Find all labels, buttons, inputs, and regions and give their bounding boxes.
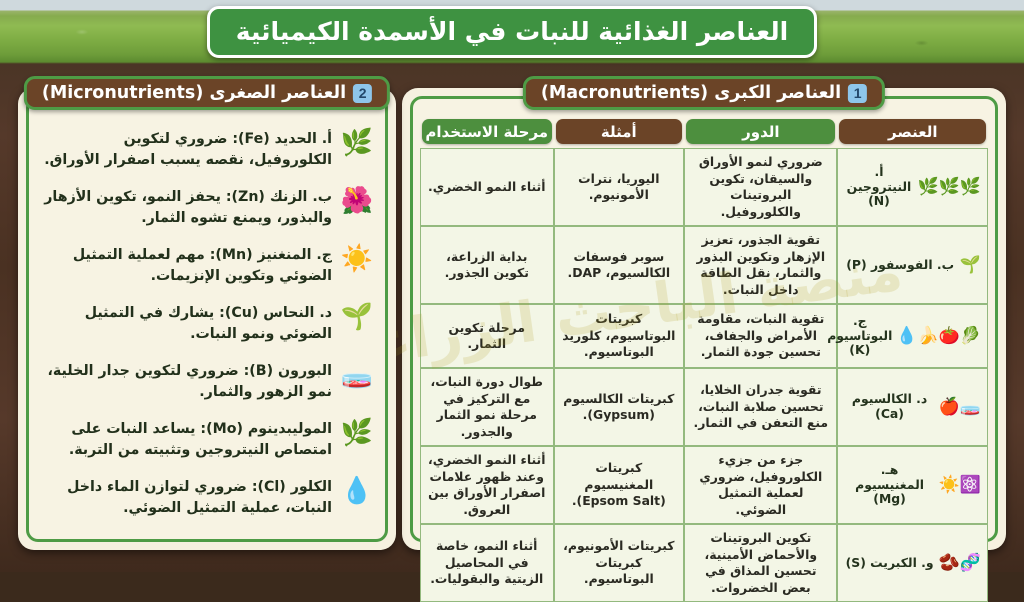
column-header-stage: مرحلة الاستخدام [420,119,554,148]
section-number-badge-1: 1 [848,84,867,103]
column-header-examples-label: أمثلة [556,119,683,144]
macronutrients-heading: العناصر الكبرى (Macronutrients) [541,83,841,103]
element-illustration-icon: 🌱 [960,257,981,274]
element-illustration-icon: 🧫🍎 [939,399,981,416]
cell-element: 🌿🌿🌿أ. النيتروجين (N) [837,148,988,226]
cell-role: تقوية جدران الخلايا، تحسين صلابة النبات،… [684,368,837,446]
table-row: 🥬🍅🍌💧ج. البوتاسيوم (K)تقوية النبات، مقاوم… [420,304,988,368]
page-title: العناصر الغذائية للنبات في الأسمدة الكيم… [236,18,788,47]
cell-element: 🧬🫘و. الكبريت (S) [837,524,988,602]
table-row: 🌱ب. الفوسفور (P)تقوية الجذور، تعزيز الإز… [420,226,988,304]
seedling-sun-icon: 🌱 [340,303,374,332]
list-item: 🌿الموليبدينوم (Mo): يساعد النبات على امت… [40,419,374,460]
macronutrients-table: العنصر الدور أمثلة مرحلة الاستخدام 🌿🌿🌿أ.… [420,119,988,602]
cell-role: تكوين البروتينات والأحماض الأمينية، تحسي… [684,524,837,602]
nitrogen-fixation-icon: 🌿 [340,419,374,448]
element-name: ج. البوتاسيوم (K) [827,314,892,359]
cell-element: 🧫🍎د. الكالسيوم (Ca) [837,368,988,446]
cell-examples: كبريتات الكالسيوم (Gypsum). [554,368,685,446]
cell-wall-flower-icon: 🧫 [340,361,374,390]
macronutrients-panel: 1 العناصر الكبرى (Macronutrients) منصة ا… [402,88,1006,550]
element-name: د. الكالسيوم (Ca) [844,392,934,422]
element-name: أ. النيتروجين (N) [844,165,913,210]
cell-role: تقوية الجذور، تعزيز الإزهار وتكوين البذو… [684,226,837,304]
flower-fruit-icon: 🌺 [340,187,374,216]
table-header-row: العنصر الدور أمثلة مرحلة الاستخدام [420,119,988,148]
element-name: ب. الفوسفور (P) [844,258,955,273]
page-title-banner: العناصر الغذائية للنبات في الأسمدة الكيم… [207,6,817,58]
list-item: ☀️ج. المنغنيز (Mn): مهم لعملية التمثيل ا… [40,245,374,286]
element-illustration-icon: 🧬🫘 [939,555,981,572]
macronutrients-section-header: 1 العناصر الكبرى (Macronutrients) [523,76,885,110]
cell-examples: كبريتات المغنيسيوم (Epsom Salt). [554,446,685,524]
micronutrient-description: ب. الزنك (Zn): يحفز النمو، تكوين الأزهار… [40,187,332,228]
micronutrients-heading: العناصر الصغرى (Micronutrients) [42,83,346,103]
micronutrients-list: 🌿أ. الحديد (Fe): ضروري لتكوين الكلوروفيل… [36,119,378,531]
list-item: 🌺ب. الزنك (Zn): يحفز النمو، تكوين الأزها… [40,187,374,228]
element-illustration-icon: ⚛️☀️ [939,477,981,494]
cell-examples: سوبر فوسفات الكالسيوم، DAP. [554,226,685,304]
cell-role: جزء من جزيء الكلوروفيل، ضروري لعملية الت… [684,446,837,524]
cell-stage: بداية الزراعة، تكوين الجذور. [420,226,554,304]
cell-examples: اليوريا، نترات الأمونيوم. [554,148,685,226]
micronutrient-description: أ. الحديد (Fe): ضروري لتكوين الكلوروفيل،… [40,129,332,170]
micronutrients-panel-inner: 2 العناصر الصغرى (Micronutrients) 🌿أ. ال… [26,96,388,542]
cell-examples: كبريتات البوتاسيوم، كلوريد البوتاسيوم. [554,304,685,368]
micronutrients-panel: 2 العناصر الصغرى (Micronutrients) 🌿أ. ال… [18,88,396,550]
micronutrient-description: الكلور (Cl): ضروري لتوازن الماء داخل الن… [40,477,332,518]
cell-stage: أثناء النمو، خاصة في المحاصيل الزيتية وا… [420,524,554,602]
element-illustration-icon: 🌿🌿🌿 [917,179,981,196]
list-item: 🌿أ. الحديد (Fe): ضروري لتكوين الكلوروفيل… [40,129,374,170]
cell-stage: أثناء النمو الخضري. [420,148,554,226]
column-header-role: الدور [684,119,837,148]
leaf-icon: 🌿 [340,129,374,158]
micronutrients-section-header: 2 العناصر الصغرى (Micronutrients) [24,76,390,110]
list-item: 🧫البورون (B): ضروري لتكوين جدار الخلية، … [40,361,374,402]
element-illustration-icon: 🥬🍅🍌💧 [896,328,981,345]
cell-role: ضروري لنمو الأوراق والسيقان، تكوين البرو… [684,148,837,226]
column-header-element: العنصر [837,119,988,148]
cell-stage: أثناء النمو الخضري، وعند ظهور علامات اصف… [420,446,554,524]
element-name: هـ. المغنيسيوم (Mg) [844,463,934,508]
cell-examples: كبريتات الأمونيوم، كبريتات البوتاسيوم. [554,524,685,602]
list-item: 💧الكلور (Cl): ضروري لتوازن الماء داخل ال… [40,477,374,518]
cell-element: 🥬🍅🍌💧ج. البوتاسيوم (K) [837,304,988,368]
micronutrient-description: البورون (B): ضروري لتكوين جدار الخلية، ن… [40,361,332,402]
element-name: و. الكبريت (S) [844,556,934,571]
micronutrient-description: الموليبدينوم (Mo): يساعد النبات على امتص… [40,419,332,460]
micronutrient-description: د. النحاس (Cu): يشارك في التمثيل الضوئي … [40,303,332,344]
cell-role: تقوية النبات، مقاومة الأمراض والجفاف، تح… [684,304,837,368]
micronutrient-description: ج. المنغنيز (Mn): مهم لعملية التمثيل الض… [40,245,332,286]
table-row: 🧬🫘و. الكبريت (S)تكوين البروتينات والأحما… [420,524,988,602]
cell-element: ⚛️☀️هـ. المغنيسيوم (Mg) [837,446,988,524]
photosynthesis-cycle-icon: ☀️ [340,245,374,274]
column-header-role-label: الدور [686,119,835,144]
table-row: ⚛️☀️هـ. المغنيسيوم (Mg)جزء من جزيء الكلو… [420,446,988,524]
list-item: 🌱د. النحاس (Cu): يشارك في التمثيل الضوئي… [40,303,374,344]
cell-element: 🌱ب. الفوسفور (P) [837,226,988,304]
section-number-badge-2: 2 [353,84,372,103]
cell-stage: مرحلة تكوين الثمار. [420,304,554,368]
column-header-examples: أمثلة [554,119,685,148]
water-balance-icon: 💧 [340,477,374,506]
macronutrients-panel-inner: 1 العناصر الكبرى (Macronutrients) منصة ا… [410,96,998,542]
column-header-element-label: العنصر [839,119,986,144]
cell-stage: طوال دورة النبات، مع التركيز في مرحلة نم… [420,368,554,446]
table-row: 🧫🍎د. الكالسيوم (Ca)تقوية جدران الخلايا، … [420,368,988,446]
column-header-stage-label: مرحلة الاستخدام [422,119,552,144]
table-row: 🌿🌿🌿أ. النيتروجين (N)ضروري لنمو الأوراق و… [420,148,988,226]
